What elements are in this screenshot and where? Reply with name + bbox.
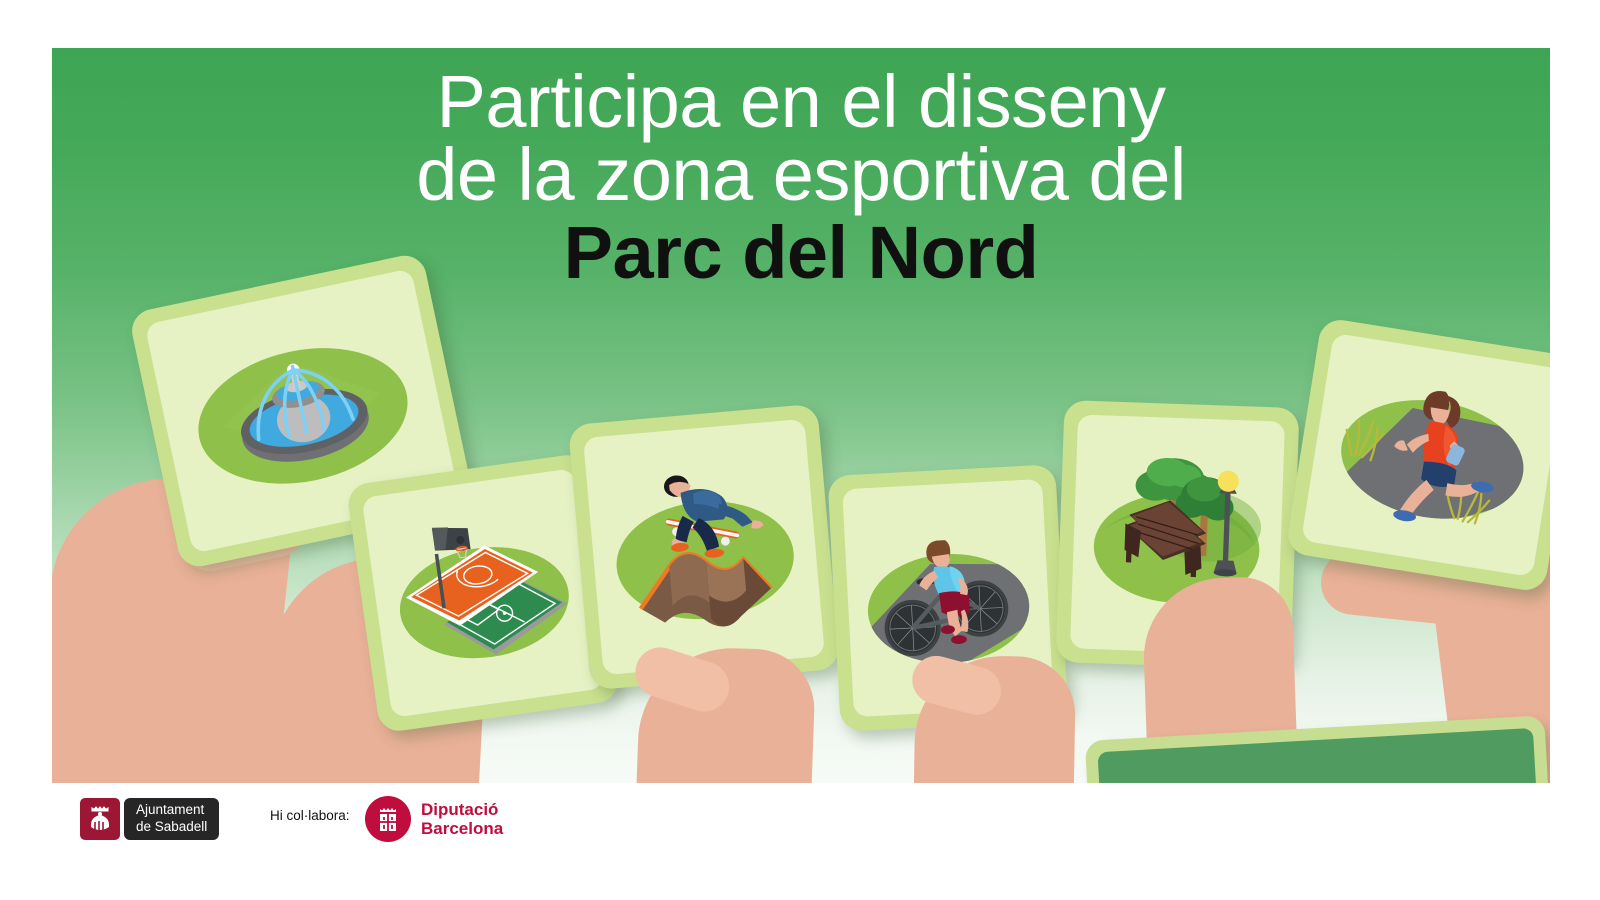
diputacio-name-block: Diputació Barcelona xyxy=(421,800,503,838)
skate-ramp-icon xyxy=(583,419,825,675)
footer-logos: Ajuntament de Sabadell Hi col·labora: xyxy=(0,786,1600,900)
cta-line-1: Fes la teva xyxy=(1194,772,1444,783)
diputacio-crest-icon xyxy=(365,796,411,842)
card-face xyxy=(362,468,605,718)
green-banner-panel: Participa en el disseny de la zona espor… xyxy=(52,48,1550,783)
page-title: Participa en el disseny de la zona espor… xyxy=(52,66,1550,290)
logo-diputacio-barcelona[interactable]: Diputació Barcelona xyxy=(365,796,503,842)
cta-inner: Fes la teva aportació! xyxy=(1097,728,1542,783)
sabadell-crest-icon xyxy=(80,798,120,840)
hand-fourth xyxy=(912,655,1076,783)
card-face xyxy=(1301,333,1550,577)
logo-ajuntament-sabadell[interactable]: Ajuntament de Sabadell xyxy=(80,798,219,840)
runner-icon xyxy=(1301,333,1550,577)
hand-third xyxy=(633,645,817,783)
poster-canvas: Participa en el disseny de la zona espor… xyxy=(0,0,1600,900)
headline-line-3: Parc del Nord xyxy=(52,217,1550,290)
card-runner[interactable] xyxy=(1285,317,1550,593)
sports-court-icon xyxy=(362,468,605,718)
diputacio-line-1: Diputació xyxy=(421,800,498,819)
sabadell-line-2: de Sabadell xyxy=(136,819,207,836)
card-skate[interactable] xyxy=(568,404,840,691)
thumb xyxy=(629,641,736,718)
card-face xyxy=(583,419,825,675)
sabadell-name-block: Ajuntament de Sabadell xyxy=(124,798,219,840)
headline-line-2: de la zona esportiva del xyxy=(52,139,1550,212)
sabadell-line-1: Ajuntament xyxy=(136,802,207,819)
diputacio-line-2: Barcelona xyxy=(421,819,503,838)
headline-line-1: Participa en el disseny xyxy=(52,66,1550,139)
cta-text: Fes la teva aportació! xyxy=(1194,774,1446,783)
collaborator-label: Hi col·labora: xyxy=(270,808,350,823)
thumb xyxy=(907,651,1006,721)
